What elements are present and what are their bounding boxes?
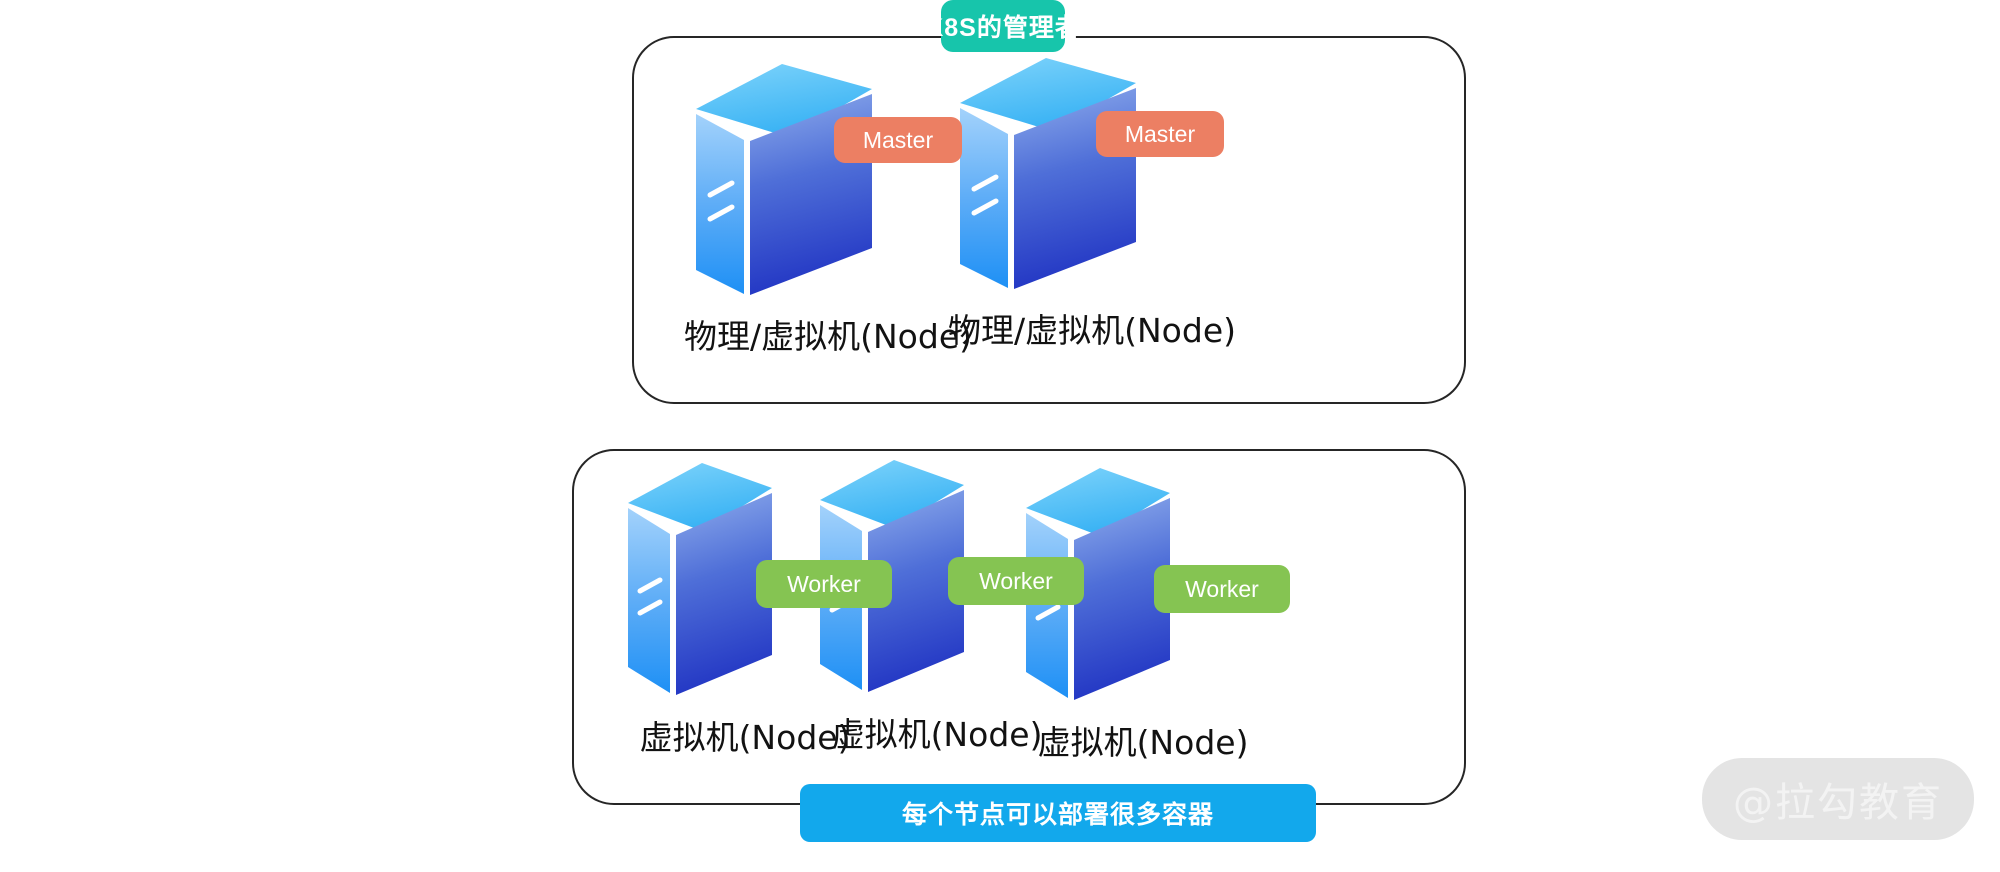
worker-role-badge: Worker bbox=[756, 560, 892, 608]
worker-role-badge: Worker bbox=[1154, 565, 1290, 613]
worker-node-3-caption: 虚拟机(Node) bbox=[1008, 716, 1278, 764]
master-node-1-caption: 物理/虚拟机(Node) bbox=[684, 310, 954, 358]
deploy-note-badge: 每个节点可以部署很多容器 bbox=[800, 784, 1316, 842]
master-node-2-caption: 物理/虚拟机(Node) bbox=[948, 304, 1218, 352]
master-role-badge: Master bbox=[1096, 111, 1224, 157]
server-tower-icon bbox=[948, 46, 1148, 296]
diagram-canvas: K8S的管理者 bbox=[0, 0, 2000, 872]
master-node-1: Master 物理/虚拟机(Node) bbox=[684, 52, 954, 302]
master-role-badge: Master bbox=[834, 117, 962, 163]
server-tower-icon bbox=[684, 52, 884, 302]
master-node-2: Master 物理/虚拟机(Node) bbox=[948, 46, 1218, 296]
master-node-1-figure: Master bbox=[684, 52, 954, 302]
k8s-admin-title-badge: K8S的管理者 bbox=[941, 0, 1065, 52]
worker-role-badge: Worker bbox=[948, 557, 1084, 605]
watermark: @拉勾教育 bbox=[1702, 758, 1974, 840]
master-node-2-figure: Master bbox=[948, 46, 1218, 296]
